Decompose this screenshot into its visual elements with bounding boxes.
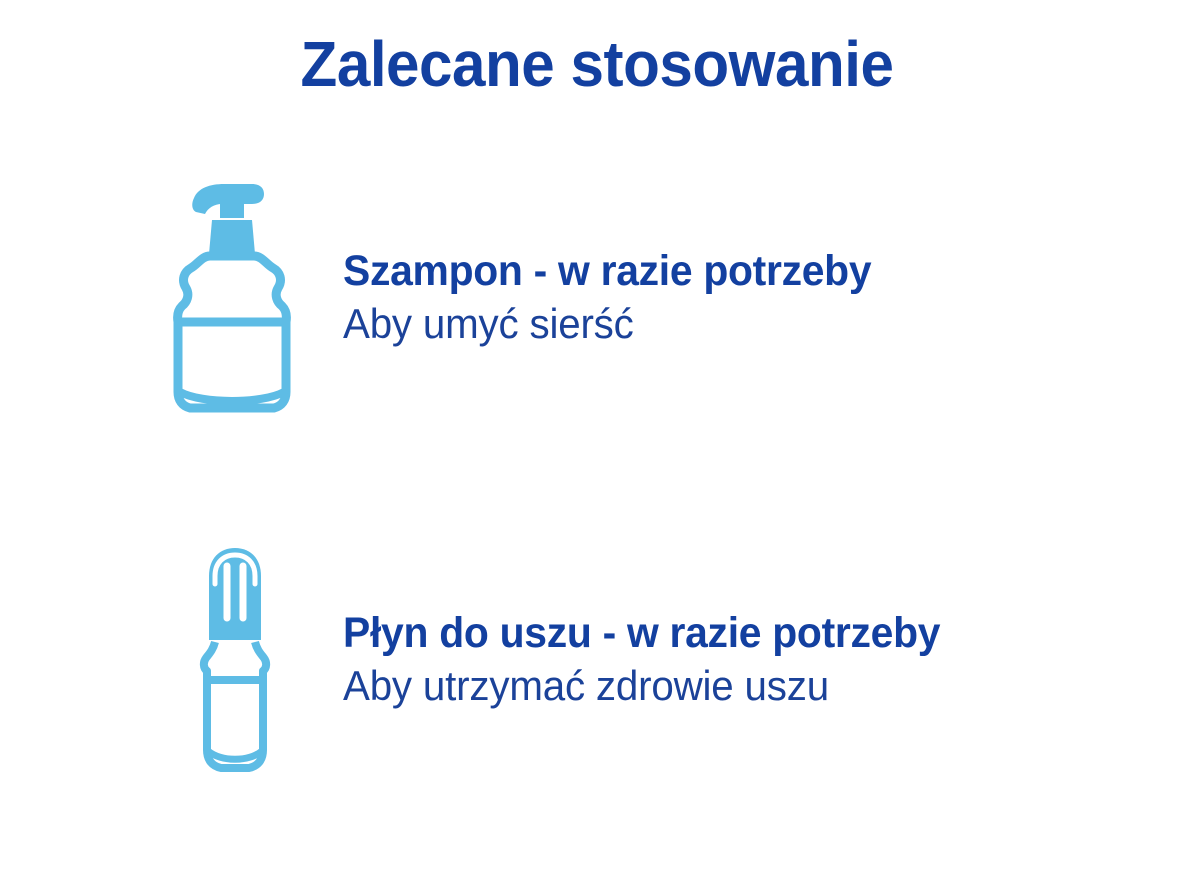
- usage-item-shampoo: Szampon - w razie potrzeby Aby umyć sier…: [0, 178, 1194, 418]
- page-title: Zalecane stosowanie: [36, 28, 1158, 100]
- eardrops-icon-container: [152, 545, 312, 775]
- shampoo-pump-bottle-icon: [172, 176, 292, 420]
- infographic-page: Zalecane stosowanie Szampon - w razie po…: [0, 0, 1194, 896]
- shampoo-subtitle: Aby umyć sierść: [343, 297, 1160, 351]
- eardrops-heading: Płyn do uszu - w razie potrzeby: [343, 607, 1151, 659]
- shampoo-heading: Szampon - w razie potrzeby: [343, 245, 1151, 297]
- shampoo-text-block: Szampon - w razie potrzeby Aby umyć sier…: [312, 245, 1194, 351]
- usage-item-eardrops: Płyn do uszu - w razie potrzeby Aby utrz…: [0, 545, 1194, 775]
- shampoo-icon-container: [152, 178, 312, 418]
- eardrops-text-block: Płyn do uszu - w razie potrzeby Aby utrz…: [312, 607, 1194, 713]
- ear-drops-ampoule-icon: [193, 544, 277, 776]
- eardrops-subtitle: Aby utrzymać zdrowie uszu: [343, 659, 1160, 713]
